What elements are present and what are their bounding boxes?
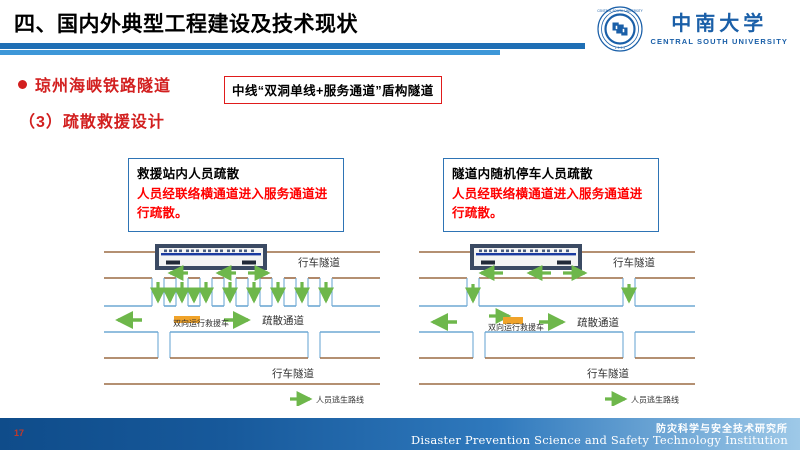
university-logo: CENTRAL SOUTH UNIVERSITY 1 9 5 2 中南大学 CE… <box>597 6 788 52</box>
slide-header: 四、国内外典型工程建设及技术现状 CENTRAL SOUTH UNIVERSIT… <box>0 0 800 62</box>
institute-name-en: Disaster Prevention Science and Safety T… <box>411 433 788 447</box>
bullet-heading: 琼州海峡铁路隧道 <box>35 72 171 96</box>
svg-text:行车隧道: 行车隧道 <box>298 256 340 269</box>
bullet-block: 琼州海峡铁路隧道 （3）疏散救援设计 <box>18 72 171 132</box>
header-rule-light <box>0 50 500 55</box>
slide-footer: 17 防灾科学与安全技术研究所 Disaster Prevention Scie… <box>0 418 800 450</box>
university-name-cn: 中南大学 <box>671 12 767 35</box>
svg-text:CENTRAL SOUTH UNIVERSITY: CENTRAL SOUTH UNIVERSITY <box>598 9 644 13</box>
bullet-subheading: （3）疏散救援设计 <box>19 108 171 132</box>
note-box-right: 隧道内随机停车人员疏散 人员经联络横通道进入服务通道进行疏散。 <box>443 158 659 232</box>
svg-text:疏散通道: 疏散通道 <box>262 314 304 327</box>
schematic-right: 行车隧道 疏散通道 双向运行救援车 行车隧道 人员逃生路线 <box>411 244 703 406</box>
page-number: 17 <box>14 428 24 438</box>
note-box-left: 救援站内人员疏散 人员经联络横通道进入服务通道进行疏散。 <box>128 158 344 232</box>
schematic-left: 行车隧道 疏散通道 双向运行救援车 行车隧道 人员逃生路线 <box>96 244 388 406</box>
svg-text:行车隧道: 行车隧道 <box>587 367 629 380</box>
page-title: 四、国内外典型工程建设及技术现状 <box>14 8 358 38</box>
panel-random-stop-evacuation: 隧道内随机停车人员疏散 人员经联络横通道进入服务通道进行疏散。 <box>411 158 703 406</box>
svg-text:人员逃生路线: 人员逃生路线 <box>631 395 679 405</box>
university-seal-icon: CENTRAL SOUTH UNIVERSITY 1 9 5 2 <box>597 6 643 52</box>
note-body-right: 人员经联络横通道进入服务通道进行疏散。 <box>452 185 650 223</box>
bullet-dot-icon <box>18 80 27 89</box>
note-title-left: 救援站内人员疏散 <box>137 165 335 183</box>
svg-text:行车隧道: 行车隧道 <box>272 367 314 380</box>
svg-text:双向运行救援车: 双向运行救援车 <box>173 318 229 328</box>
svg-text:行车隧道: 行车隧道 <box>613 256 655 269</box>
note-title-right: 隧道内随机停车人员疏散 <box>452 165 650 183</box>
svg-text:双向运行救援车: 双向运行救援车 <box>488 322 544 332</box>
svg-text:人员逃生路线: 人员逃生路线 <box>316 395 364 405</box>
callout-box: 中线“双洞单线+服务通道”盾构隧道 <box>224 76 442 104</box>
university-name-en: CENTRAL SOUTH UNIVERSITY <box>650 37 788 46</box>
university-name-block: 中南大学 CENTRAL SOUTH UNIVERSITY <box>650 12 788 46</box>
header-rule-dark <box>0 43 585 49</box>
svg-text:1 9 5 2: 1 9 5 2 <box>615 46 626 50</box>
note-body-left: 人员经联络横通道进入服务通道进行疏散。 <box>137 185 335 223</box>
svg-text:疏散通道: 疏散通道 <box>577 316 619 329</box>
panel-rescue-station-evacuation: 救援站内人员疏散 人员经联络横通道进入服务通道进行疏散。 <box>96 158 388 406</box>
